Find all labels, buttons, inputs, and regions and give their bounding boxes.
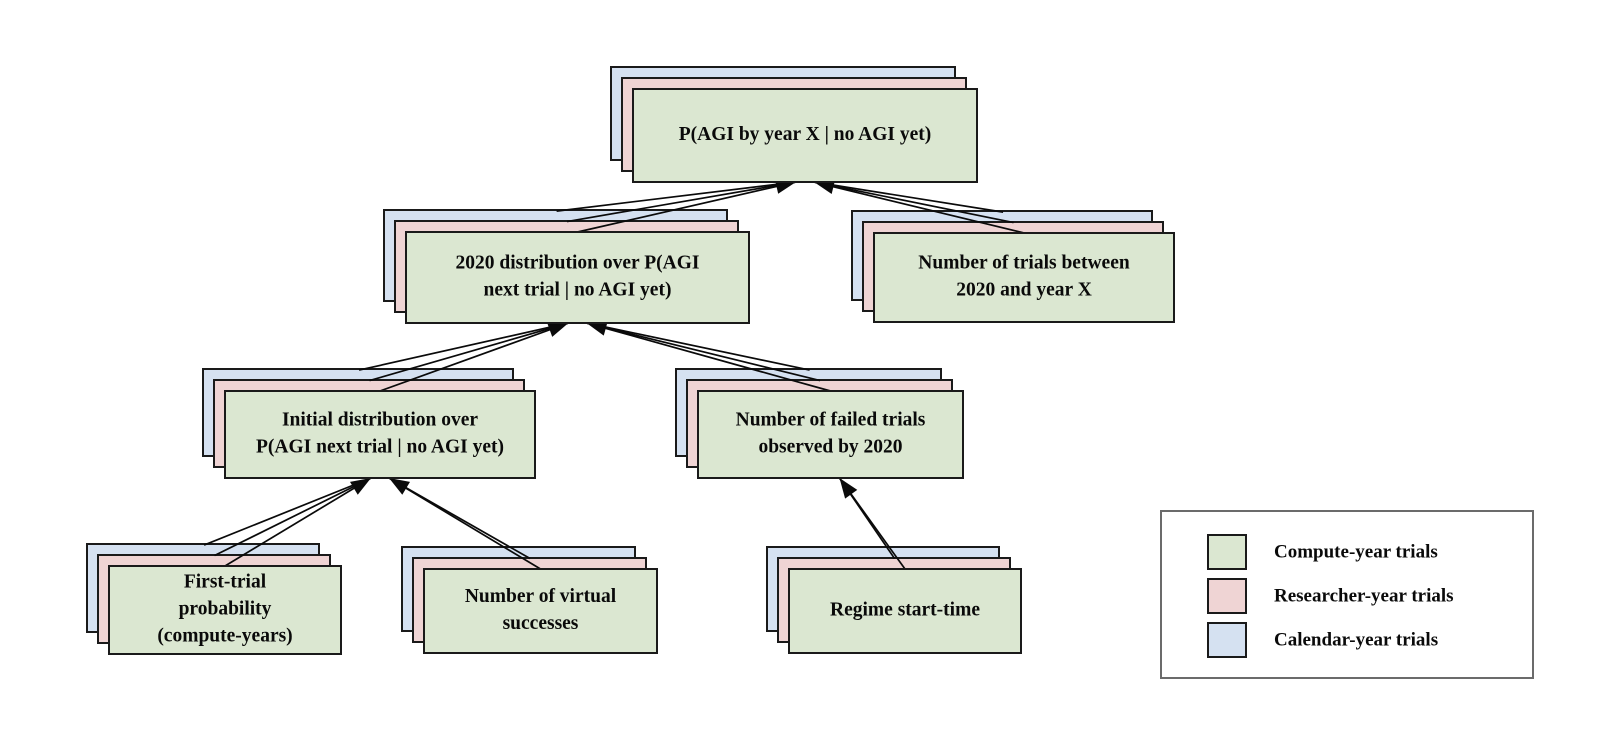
node-label-num-virtual-successes: successes xyxy=(503,613,579,634)
edge-line xyxy=(587,323,810,370)
arrow-head xyxy=(389,478,410,495)
node-num-virtual-successes[interactable]: Number of virtualsuccesses xyxy=(424,569,657,653)
node-label-first-trial-prob: First-trial xyxy=(184,571,267,592)
edge-line xyxy=(359,323,568,370)
node-label-dist-2020: next trial | no AGI yet) xyxy=(484,279,672,300)
node-dist-2020[interactable]: 2020 distribution over P(AGInext trial |… xyxy=(406,232,749,323)
card-compute-year-num-virtual-successes[interactable] xyxy=(424,569,657,653)
legend-swatch-calendar-year xyxy=(1208,623,1246,657)
node-first-trial-prob[interactable]: First-trialprobability(compute-years) xyxy=(109,566,341,654)
node-num-failed-trials[interactable]: Number of failed trialsobserved by 2020 xyxy=(698,391,963,478)
node-label-first-trial-prob: (compute-years) xyxy=(157,625,292,646)
card-compute-year-initial-dist[interactable] xyxy=(225,391,535,478)
card-compute-year-num-failed-trials[interactable] xyxy=(698,391,963,478)
card-stack-back-layers xyxy=(87,67,1163,643)
card-compute-year-dist-2020[interactable] xyxy=(406,232,749,323)
node-label-num-virtual-successes: Number of virtual xyxy=(465,586,617,607)
arrow-head xyxy=(840,478,858,499)
node-label-num-failed-trials: observed by 2020 xyxy=(758,436,902,457)
diagram-canvas: P(AGI by year X | no AGI yet)2020 distri… xyxy=(0,0,1600,745)
node-initial-dist[interactable]: Initial distribution overP(AGI next tria… xyxy=(225,391,535,478)
legend: Compute-year trialsResearcher-year trial… xyxy=(1161,511,1533,678)
node-regime-start-time[interactable]: Regime start-time xyxy=(789,569,1021,653)
card-compute-year-num-trials-between[interactable] xyxy=(874,233,1174,322)
legend-swatch-compute-year xyxy=(1208,535,1246,569)
node-label-regime-start-time: Regime start-time xyxy=(830,599,980,620)
dependency-diagram: P(AGI by year X | no AGI yet)2020 distri… xyxy=(0,0,1600,745)
node-label-num-failed-trials: Number of failed trials xyxy=(736,409,926,430)
legend-label-1: Researcher-year trials xyxy=(1274,585,1454,606)
arrow-head xyxy=(547,323,568,337)
legend-label-2: Calendar-year trials xyxy=(1274,629,1438,650)
node-label-dist-2020: 2020 distribution over P(AGI xyxy=(456,252,700,273)
arrow-head xyxy=(350,478,371,495)
edge-line xyxy=(204,478,371,545)
edge-line xyxy=(557,182,796,211)
node-label-first-trial-prob: probability xyxy=(179,598,272,619)
node-label-num-trials-between: 2020 and year X xyxy=(956,279,1092,300)
legend-label-0: Compute-year trials xyxy=(1274,541,1438,562)
node-label-num-trials-between: Number of trials between xyxy=(918,252,1130,273)
node-label-p-agi-by-year: P(AGI by year X | no AGI yet) xyxy=(679,124,932,145)
node-num-trials-between[interactable]: Number of trials between2020 and year X xyxy=(874,233,1174,322)
edge-line xyxy=(814,182,1003,212)
node-p-agi-by-year[interactable]: P(AGI by year X | no AGI yet) xyxy=(633,89,977,182)
node-label-initial-dist: P(AGI next trial | no AGI yet) xyxy=(256,436,504,457)
legend-swatch-researcher-year xyxy=(1208,579,1246,613)
node-label-initial-dist: Initial distribution over xyxy=(282,409,478,430)
